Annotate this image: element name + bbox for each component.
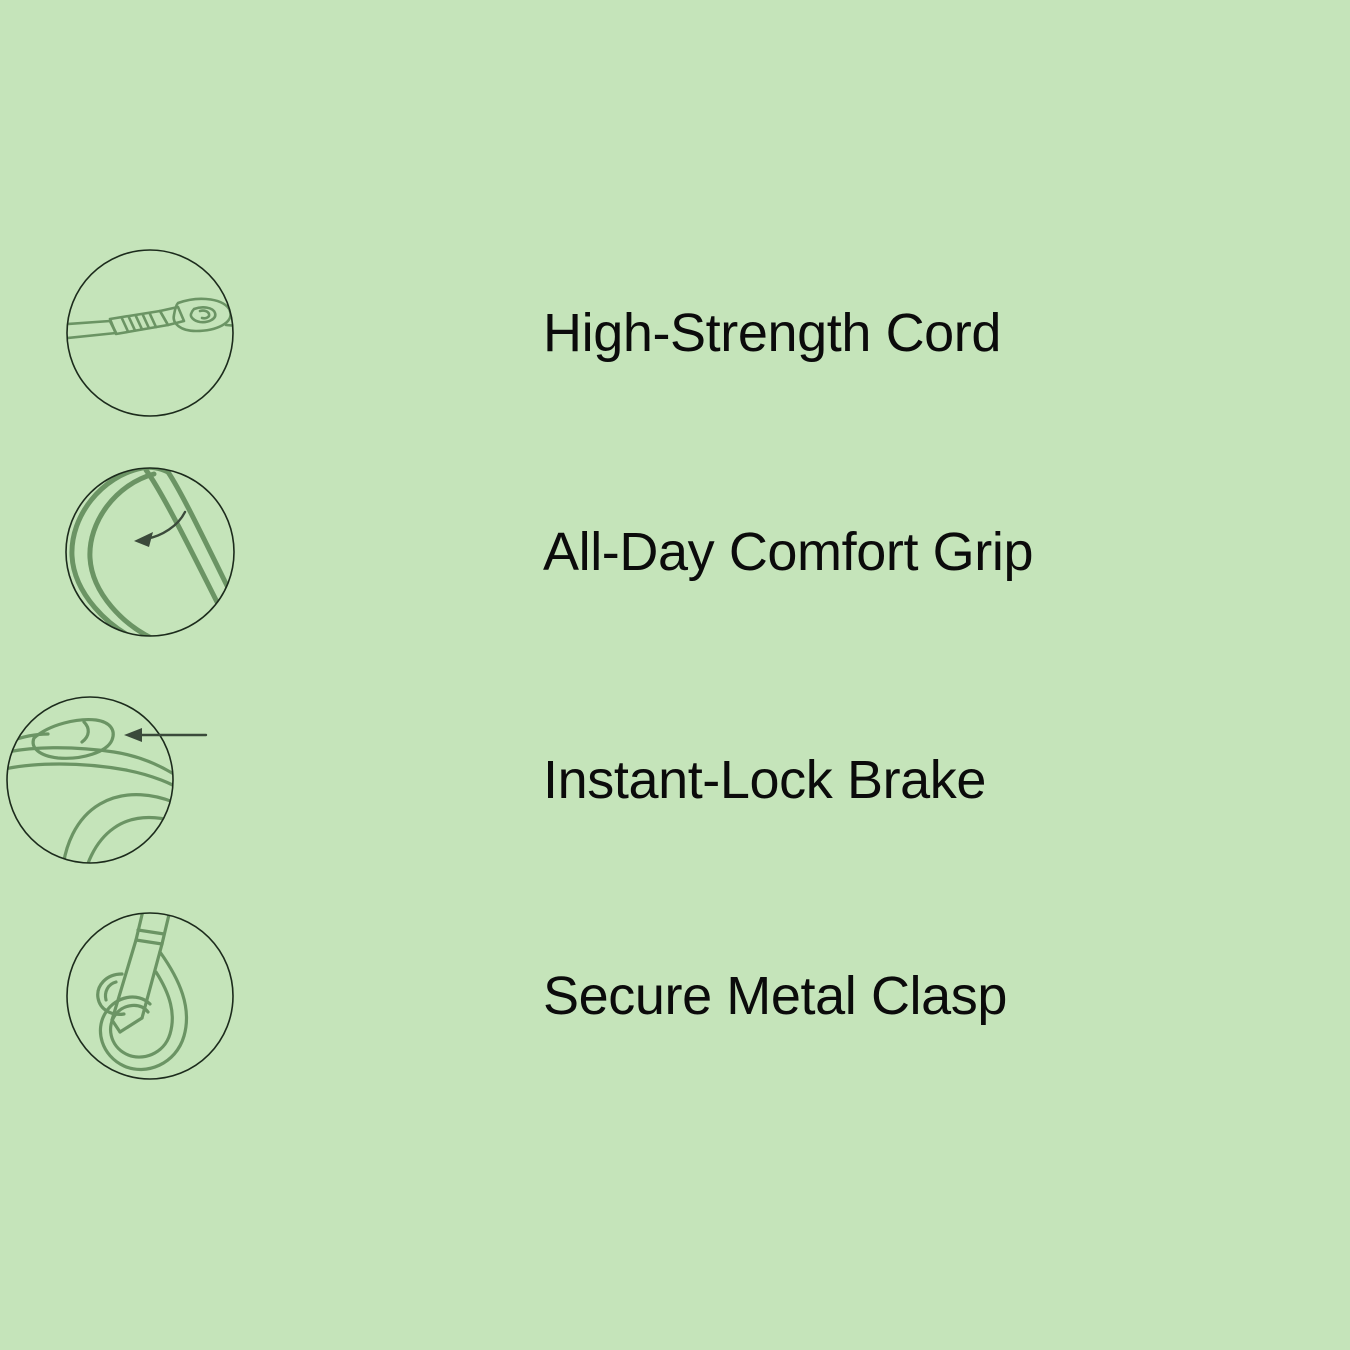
brake-button-icon (0, 680, 310, 880)
feature-icon-slot (0, 452, 300, 652)
feature-label-all-day-comfort-grip: All-Day Comfort Grip (543, 525, 1033, 579)
feature-label-holder: High-Strength Cord (543, 233, 1001, 433)
feature-row: High-Strength Cord (0, 233, 1350, 433)
feature-row: Secure Metal Clasp (0, 896, 1350, 1096)
feature-row: Instant-Lock Brake (0, 680, 1350, 880)
feature-label-instant-lock-brake: Instant-Lock Brake (543, 753, 986, 807)
metal-clasp-hook-icon (50, 896, 250, 1096)
icon-circle-outline (7, 697, 173, 863)
feature-infographic: High-Strength Cord (0, 0, 1350, 1350)
feature-icon-slot (0, 680, 300, 880)
comfort-grip-handle-icon (50, 452, 250, 652)
feature-label-high-strength-cord: High-Strength Cord (543, 306, 1001, 360)
icon-circle-outline (67, 250, 233, 416)
feature-icon-slot (0, 233, 300, 433)
feature-row: All-Day Comfort Grip (0, 452, 1350, 652)
feature-label-secure-metal-clasp: Secure Metal Clasp (543, 969, 1007, 1023)
brake-pointer-arrow (124, 728, 206, 742)
grip-pointer-arrow (134, 512, 185, 547)
feature-label-holder: Secure Metal Clasp (543, 896, 1007, 1096)
feature-label-holder: Instant-Lock Brake (543, 680, 986, 880)
feature-icon-slot (0, 896, 300, 1096)
leash-cord-detail-icon (50, 233, 250, 433)
feature-label-holder: All-Day Comfort Grip (543, 452, 1033, 652)
